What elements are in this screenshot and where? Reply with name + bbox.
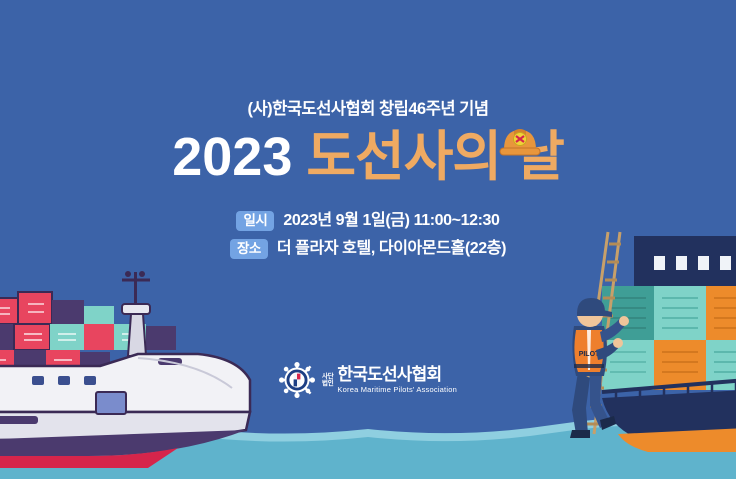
poster-subtitle: (사)한국도선사협회 창립46주년 기념 [0,0,736,120]
logo-prefix-line1: 사단 [322,373,333,380]
info-text-venue: 더 플라자 호텔, 다이아몬드홀(22층) [277,241,506,257]
association-logo: 사단 법인 한국도선사협회 Korea Maritime Pilots' Ass… [0,362,736,398]
ships-wheel-icon [279,362,315,398]
info-text-date: 2023년 9월 1일(금) 11:00~12:30 [283,213,499,229]
poster-title: 2023도선사의 날 [0,126,736,188]
event-poster: PILOT (사)한국도선사협회 창립46주년 기념 2023도선사의 날 [0,0,736,479]
info-badge-date: 일시 [236,211,274,232]
event-info-row-date: 일시 2023년 9월 1일(금) 11:00~12:30 [0,210,736,232]
hard-hat-icon [498,124,542,158]
event-info-row-venue: 장소 더 플라자 호텔, 다이아몬드홀(22층) [0,238,736,260]
logo-prefix-line2: 법인 [322,380,333,387]
logo-prefix: 사단 법인 [322,373,333,388]
event-info-list: 일시 2023년 9월 1일(금) 11:00~12:30 장소 더 플라자 호… [0,210,736,260]
logo-name-korean: 한국도선사협회 [337,366,457,384]
logo-names: 한국도선사협회 Korea Maritime Pilots' Associati… [337,366,457,394]
poster-title-year: 2023 [172,127,292,187]
logo-text-block: 사단 법인 한국도선사협회 Korea Maritime Pilots' Ass… [322,366,457,394]
logo-name-english: Korea Maritime Pilots' Association [337,385,457,394]
info-badge-venue: 장소 [230,239,268,260]
